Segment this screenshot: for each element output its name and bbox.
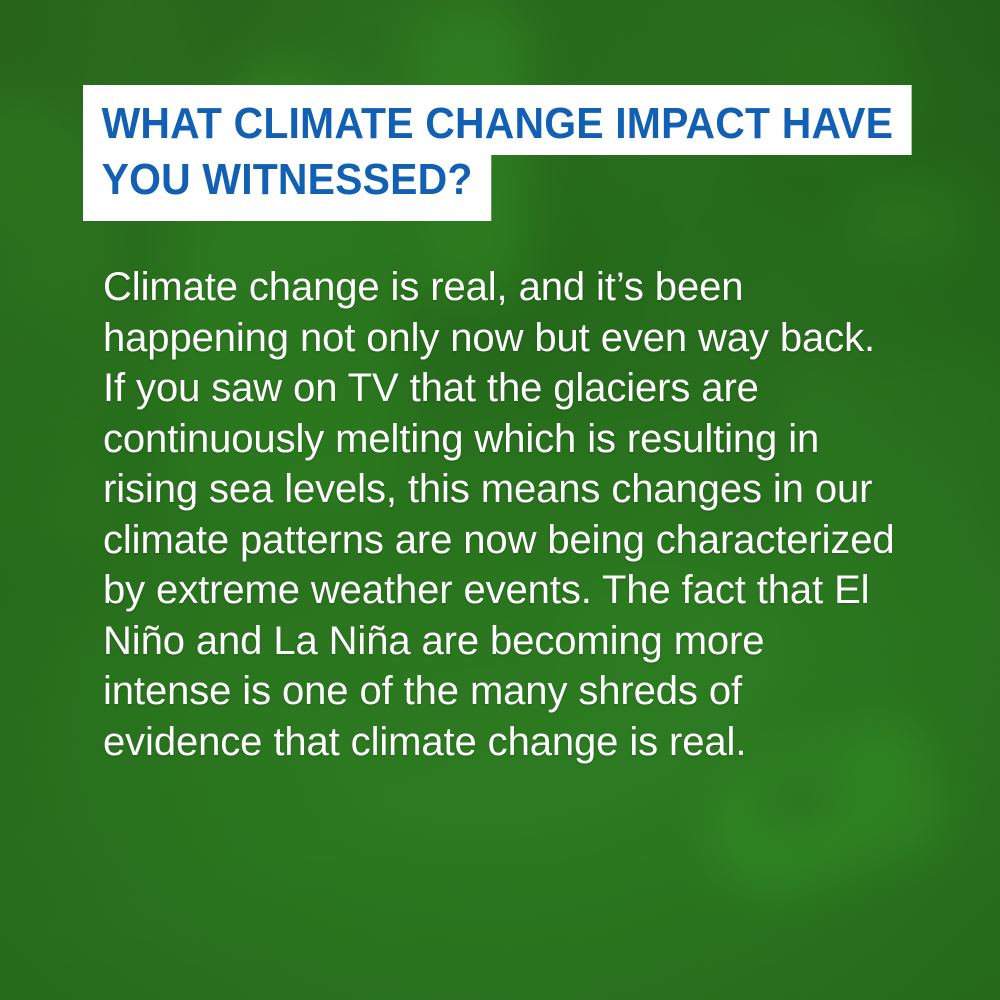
body-line: climate patterns are now being character… bbox=[103, 515, 953, 566]
card-content: WHAT CLIMATE CHANGE IMPACT HAVE YOU WITN… bbox=[0, 0, 1000, 1000]
body-line: by extreme weather events. The fact that… bbox=[103, 565, 953, 616]
page-title: WHAT CLIMATE CHANGE IMPACT HAVE YOU WITN… bbox=[83, 85, 915, 221]
body-paragraph: Climate change is real, and it’s been ha… bbox=[103, 262, 953, 767]
body-line: rising sea levels, this means changes in… bbox=[103, 464, 953, 515]
infographic-card: WHAT CLIMATE CHANGE IMPACT HAVE YOU WITN… bbox=[0, 0, 1000, 1000]
headline-line-1: WHAT CLIMATE CHANGE IMPACT HAVE bbox=[83, 85, 912, 155]
body-line: continuously melting which is resulting … bbox=[103, 414, 953, 465]
body-line: If you saw on TV that the glaciers are bbox=[103, 363, 953, 414]
body-line: Climate change is real, and it’s been bbox=[103, 262, 953, 313]
body-line: evidence that climate change is real. bbox=[103, 717, 953, 768]
body-line: happening not only now but even way back… bbox=[103, 313, 953, 364]
body-line: Niño and La Niña are becoming more bbox=[103, 616, 953, 667]
body-line: intense is one of the many shreds of bbox=[103, 666, 953, 717]
headline-line-2: YOU WITNESSED? bbox=[83, 155, 491, 221]
